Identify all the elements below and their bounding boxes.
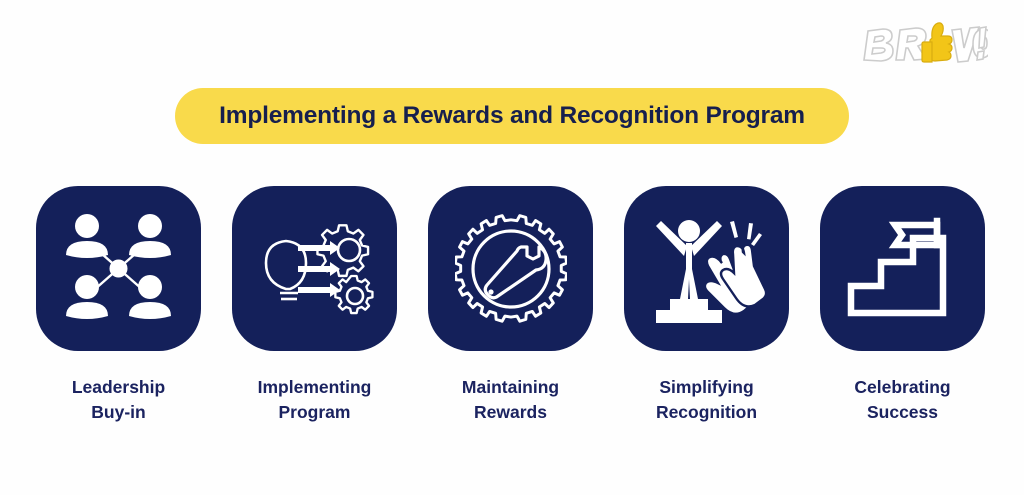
title-banner: Implementing a Rewards and Recognition P…: [175, 88, 849, 144]
thumbs-up-icon: [922, 23, 952, 62]
step-maintaining-rewards[interactable]: Maintaining Rewards: [428, 186, 593, 426]
icon-tile: [36, 186, 201, 351]
page-title: Implementing a Rewards and Recognition P…: [219, 102, 805, 130]
icon-tile: [820, 186, 985, 351]
step-label: Celebrating Success: [854, 375, 950, 426]
step-celebrating-success[interactable]: Celebrating Success: [820, 186, 985, 426]
logo-letters-vo: [952, 27, 988, 62]
team-network-icon: [61, 211, 176, 326]
step-label: Implementing Program: [258, 375, 372, 426]
step-label: Maintaining Rewards: [462, 375, 559, 426]
step-label: Leadership Buy-in: [72, 375, 165, 426]
step-leadership-buy-in[interactable]: Leadership Buy-in: [36, 186, 201, 426]
step-implementing-program[interactable]: Implementing Program: [232, 186, 397, 426]
icon-tile: [624, 186, 789, 351]
step-label: Simplifying Recognition: [656, 375, 757, 426]
gear-wrench-icon: [455, 213, 567, 325]
icon-tile: [232, 186, 397, 351]
logo-letters-br: [864, 28, 926, 61]
step-simplifying-recognition[interactable]: Simplifying Recognition: [624, 186, 789, 426]
podium-applause-icon: [648, 213, 766, 325]
bar-steps-flag-icon: [847, 215, 959, 323]
lightbulb-arrows-gears-icon: [256, 217, 374, 321]
process-steps-row: Leadership Buy-in: [0, 186, 1024, 426]
icon-tile: [428, 186, 593, 351]
bravo-logo: [856, 14, 988, 70]
